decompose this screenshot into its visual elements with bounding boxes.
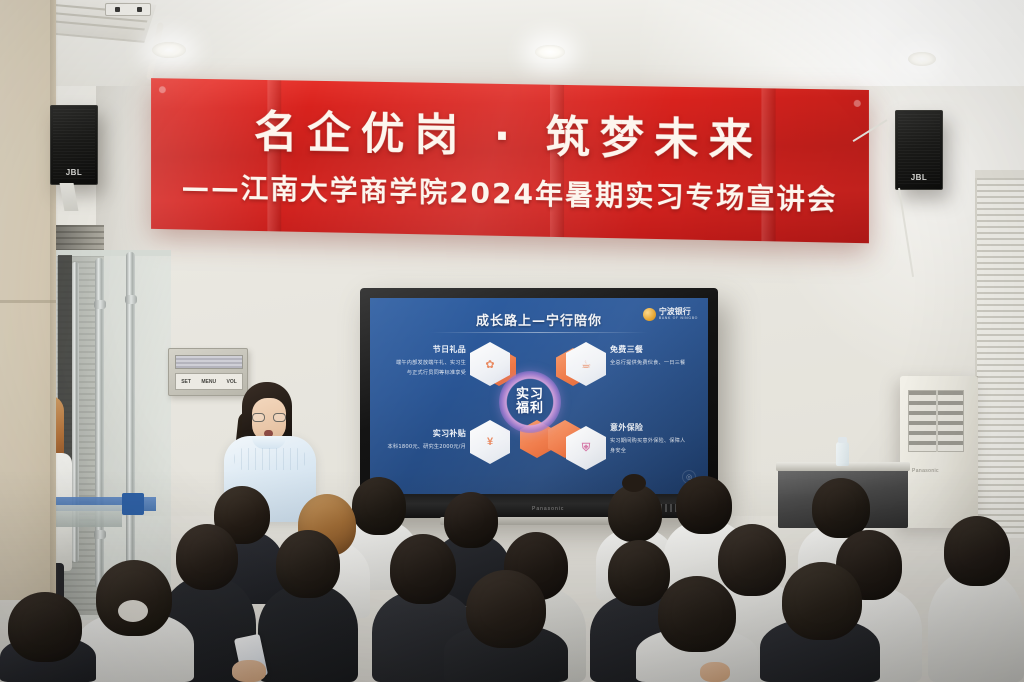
audience-member (258, 584, 358, 682)
audience-member (340, 520, 418, 590)
item-detail-1: 实习期间购买意外保险、保障人 (610, 437, 706, 447)
display-stand (440, 517, 640, 525)
presenter-person (216, 382, 324, 518)
bank-logo-icon (643, 308, 656, 321)
handle-bracket (125, 295, 137, 304)
banner-tie (854, 100, 861, 107)
audience-member (760, 618, 880, 682)
audience-member (160, 576, 256, 682)
audience-member (700, 580, 804, 682)
audience-member (608, 540, 670, 606)
hand (700, 662, 730, 682)
audience-member (782, 562, 862, 640)
audience-member (0, 636, 96, 682)
audience-member (444, 624, 568, 682)
wall-speaker-right: JBL (895, 110, 943, 190)
audience-member (658, 576, 736, 652)
audience-member (820, 586, 922, 682)
item-heading: 实习补贴 (376, 428, 466, 439)
speaker-brand-label: JBL (911, 173, 928, 182)
wall-speaker-left: JBL (50, 105, 98, 185)
pillar-seam (0, 300, 56, 303)
center-label-line1: 实习 (516, 388, 544, 402)
door-safety-badge-icon (122, 493, 144, 515)
glass-frame-header (56, 250, 171, 256)
slide-item-top-right: 免费三餐 全总行提供免费伙食、一日三餐 (610, 344, 706, 369)
audience-member (718, 524, 786, 596)
item-detail-1: 本科1800元、研究生2000元/月 (376, 443, 466, 453)
event-banner: 名企优岗 · 筑梦未来 ——江南大学商学院2024年暑期实习专场宣讲会 (151, 78, 869, 243)
panel-vent-slot (175, 355, 243, 369)
presenter-blouse-pleats (234, 448, 306, 470)
audience-member (432, 534, 510, 606)
audience-member (504, 532, 568, 600)
ac-brand-label: Panasonic (912, 468, 939, 474)
panel-label-a: SET (181, 379, 191, 385)
equipment-cabinet (778, 466, 908, 528)
center-label: 实习 福利 (499, 371, 561, 433)
handle-bracket (94, 530, 106, 539)
display-ir-receiver-icon (660, 504, 702, 512)
hand (232, 660, 266, 682)
handle-bracket (94, 300, 106, 309)
center-label-line2: 福利 (516, 402, 544, 416)
audience-member (596, 528, 676, 600)
audience-member (76, 612, 194, 682)
slide-canvas: 成长路上—宁行陪你 宁波银行 BANK OF NINGBO ✿ ☕ ¥ (370, 298, 708, 494)
audience-member (276, 530, 340, 598)
audience-member (372, 590, 476, 682)
smartphone[interactable] (234, 634, 268, 680)
audience-member (284, 540, 370, 618)
slide-item-top-left: 节日礼品 端午内部发放端午礼、实习生 与正式行员同等标准享受 (376, 344, 466, 379)
bottle-cap (838, 437, 847, 443)
item-detail-1: 端午内部发放端午礼、实习生 (376, 359, 466, 369)
presentation-display[interactable]: 成长路上—宁行陪你 宁波银行 BANK OF NINGBO ✿ ☕ ¥ (360, 288, 718, 518)
slide-item-bottom-right: 意外保险 实习期间购买意外保险、保障人 身安全 (610, 422, 706, 457)
slide-title-underline (430, 332, 648, 333)
item-detail-1: 全总行提供免费伙食、一日三餐 (610, 359, 706, 369)
ceiling-downlight-icon (908, 52, 936, 66)
audience-member (390, 534, 456, 604)
display-brand-label: Panasonic (532, 506, 564, 512)
slide-brand-logo: 宁波银行 BANK OF NINGBO (643, 308, 698, 321)
display-bezel-bottom: Panasonic (360, 494, 718, 518)
ceiling-downlight-icon (535, 45, 565, 59)
slide-item-bottom-left: 实习补贴 本科1800元、研究生2000元/月 (376, 428, 466, 453)
audience-member (836, 530, 902, 600)
speaker-brand-label: JBL (66, 168, 83, 177)
audience-member (486, 586, 586, 682)
water-bottle (836, 442, 849, 466)
ceiling-sensor-icon (105, 3, 151, 16)
right-window-blinds (975, 178, 1024, 538)
item-heading: 免费三餐 (610, 344, 706, 355)
item-detail-2: 身安全 (610, 447, 706, 457)
audience-member (200, 530, 284, 604)
panel-label-b: MENU (201, 379, 216, 385)
ceiling-highlight (640, 0, 1024, 92)
handle-bracket (125, 560, 137, 569)
slide-watermark-icon: ◎ (682, 470, 696, 484)
audience-member (466, 570, 546, 648)
audience-member (176, 524, 238, 590)
audience-member (590, 594, 688, 682)
item-detail-2: 与正式行员同等标准享受 (376, 369, 466, 379)
ac-grille-divider (936, 390, 938, 452)
banner-tie (159, 86, 166, 93)
audience-member (928, 570, 1024, 682)
audience-member (798, 524, 884, 600)
item-heading: 意外保险 (610, 422, 706, 433)
photo-scene: 名企优岗 · 筑梦未来 ——江南大学商学院2024年暑期实习专场宣讲会 JBL … (0, 0, 1024, 682)
audience-member (636, 628, 758, 682)
banner-headline: 名企优岗 · 筑梦未来 (151, 94, 869, 171)
audience-member (664, 520, 748, 596)
ceiling-downlight-icon (152, 42, 186, 58)
air-conditioner-unit: Panasonic (900, 376, 978, 528)
brand-tagline: BANK OF NINGBO (659, 317, 698, 321)
item-heading: 节日礼品 (376, 344, 466, 355)
glasses-icon (252, 413, 286, 422)
